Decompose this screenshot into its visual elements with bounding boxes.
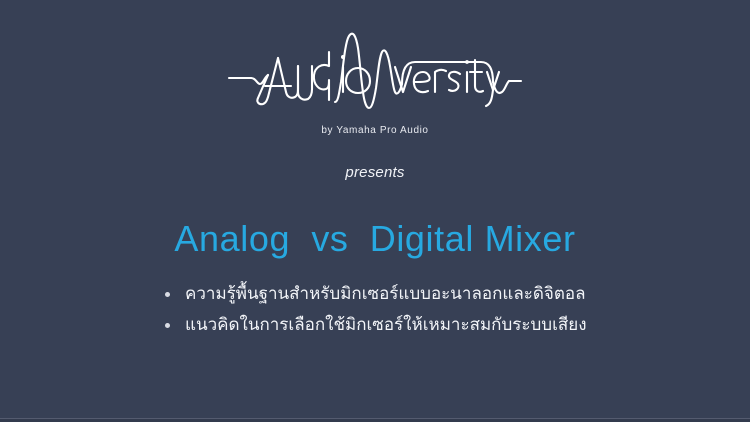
logo-tagline: by Yamaha Pro Audio	[0, 125, 750, 136]
bullet-text: ความรู้พื้นฐานสำหรับมิกเซอร์แบบอะนาลอกแล…	[185, 283, 586, 306]
slide-bottom-hairline	[0, 418, 750, 419]
brand-logo-block: by Yamaha Pro Audio	[0, 22, 750, 136]
list-item: แนวคิดในการเลือกใช้มิกเซอร์ให้เหมาะสมกับ…	[165, 314, 635, 337]
page-title: Analog vs Digital Mixer	[0, 218, 750, 260]
presents-label: presents	[0, 164, 750, 181]
bullet-text: แนวคิดในการเลือกใช้มิกเซอร์ให้เหมาะสมกับ…	[185, 314, 587, 337]
bullet-list: ความรู้พื้นฐานสำหรับมิกเซอร์แบบอะนาลอกแล…	[165, 283, 635, 345]
bullet-dot-icon	[165, 292, 170, 297]
presentation-slide: by Yamaha Pro Audio presents Analog vs D…	[0, 0, 750, 422]
bullet-dot-icon	[165, 323, 170, 328]
audioversity-waveform-logo-icon	[225, 22, 525, 118]
list-item: ความรู้พื้นฐานสำหรับมิกเซอร์แบบอะนาลอกแล…	[165, 283, 635, 306]
